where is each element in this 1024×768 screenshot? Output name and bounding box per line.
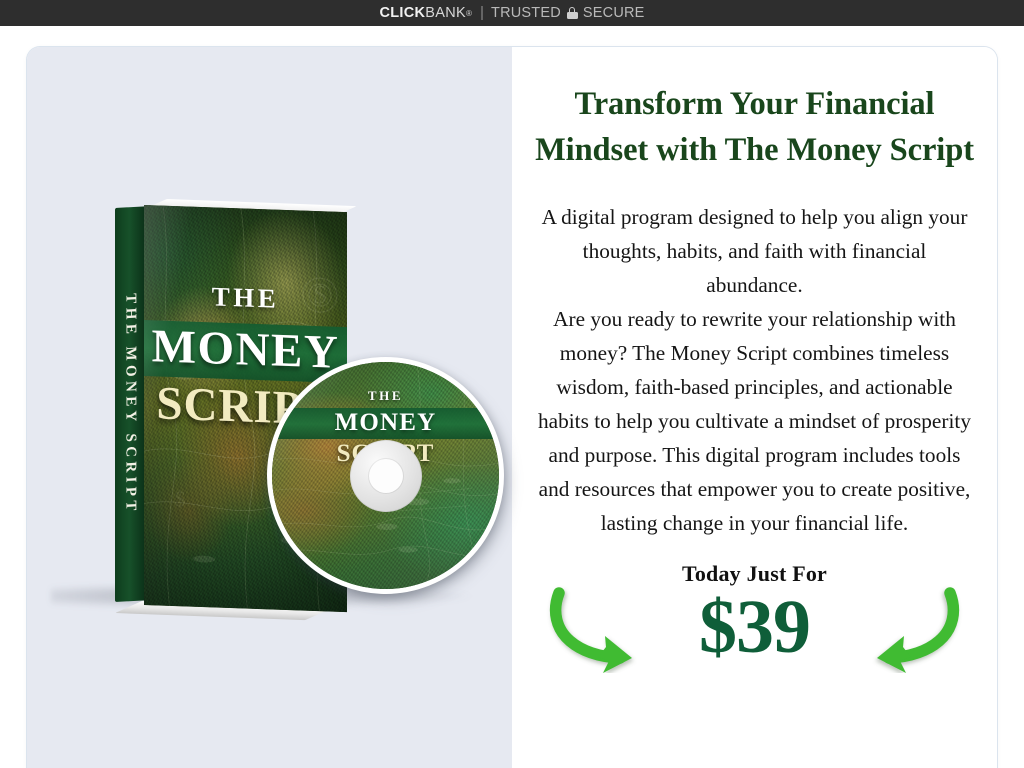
- clickbank-brand-bank: BANK: [425, 5, 466, 21]
- page-title: Transform Your Financial Mindset with Th…: [535, 81, 975, 173]
- offer-card: THE MONEY SCRIPT: [26, 46, 998, 768]
- offer-paragraph-2: Are you ready to rewrite your relationsh…: [534, 303, 975, 541]
- price-block: Today Just For: [534, 561, 975, 673]
- registered-trademark-mark: ®: [466, 9, 472, 18]
- clickbank-brand-click: CLICK: [379, 5, 425, 21]
- disc-line-money: MONEY: [272, 410, 499, 436]
- price-row: $39: [534, 587, 975, 673]
- trust-bar-separator: |: [480, 5, 484, 21]
- clickbank-trust-bar: CLICKBANK® | TRUSTED SECURE: [0, 0, 1024, 26]
- arrow-curved-right-icon: [546, 581, 646, 673]
- disc-mockup: $ THE MONEY SCRIPT: [267, 357, 504, 594]
- lock-icon: [567, 7, 578, 19]
- disc-line-the: THE: [272, 388, 499, 404]
- disc-hub: [350, 440, 422, 512]
- offer-card-wrapper: THE MONEY SCRIPT: [0, 26, 1024, 768]
- disc-green-band: MONEY: [272, 408, 499, 439]
- book-spine: THE MONEY SCRIPT: [115, 206, 145, 602]
- product-image-pane: THE MONEY SCRIPT: [27, 47, 512, 768]
- offer-copy-pane: Transform Your Financial Mindset with Th…: [512, 47, 997, 768]
- disc-hub-hole: [369, 459, 403, 493]
- arrow-curved-left-icon: [863, 581, 963, 673]
- offer-paragraph-1: A digital program designed to help you a…: [534, 201, 975, 303]
- offer-description: A digital program designed to help you a…: [534, 201, 975, 541]
- book-spine-title: THE MONEY SCRIPT: [122, 293, 139, 515]
- book-cover-line-the: THE: [144, 279, 347, 317]
- trusted-label: TRUSTED: [491, 5, 561, 21]
- trust-bar-content: CLICKBANK® | TRUSTED SECURE: [379, 5, 644, 21]
- product-mockup: THE MONEY SCRIPT: [27, 47, 512, 768]
- secure-label: SECURE: [583, 5, 645, 21]
